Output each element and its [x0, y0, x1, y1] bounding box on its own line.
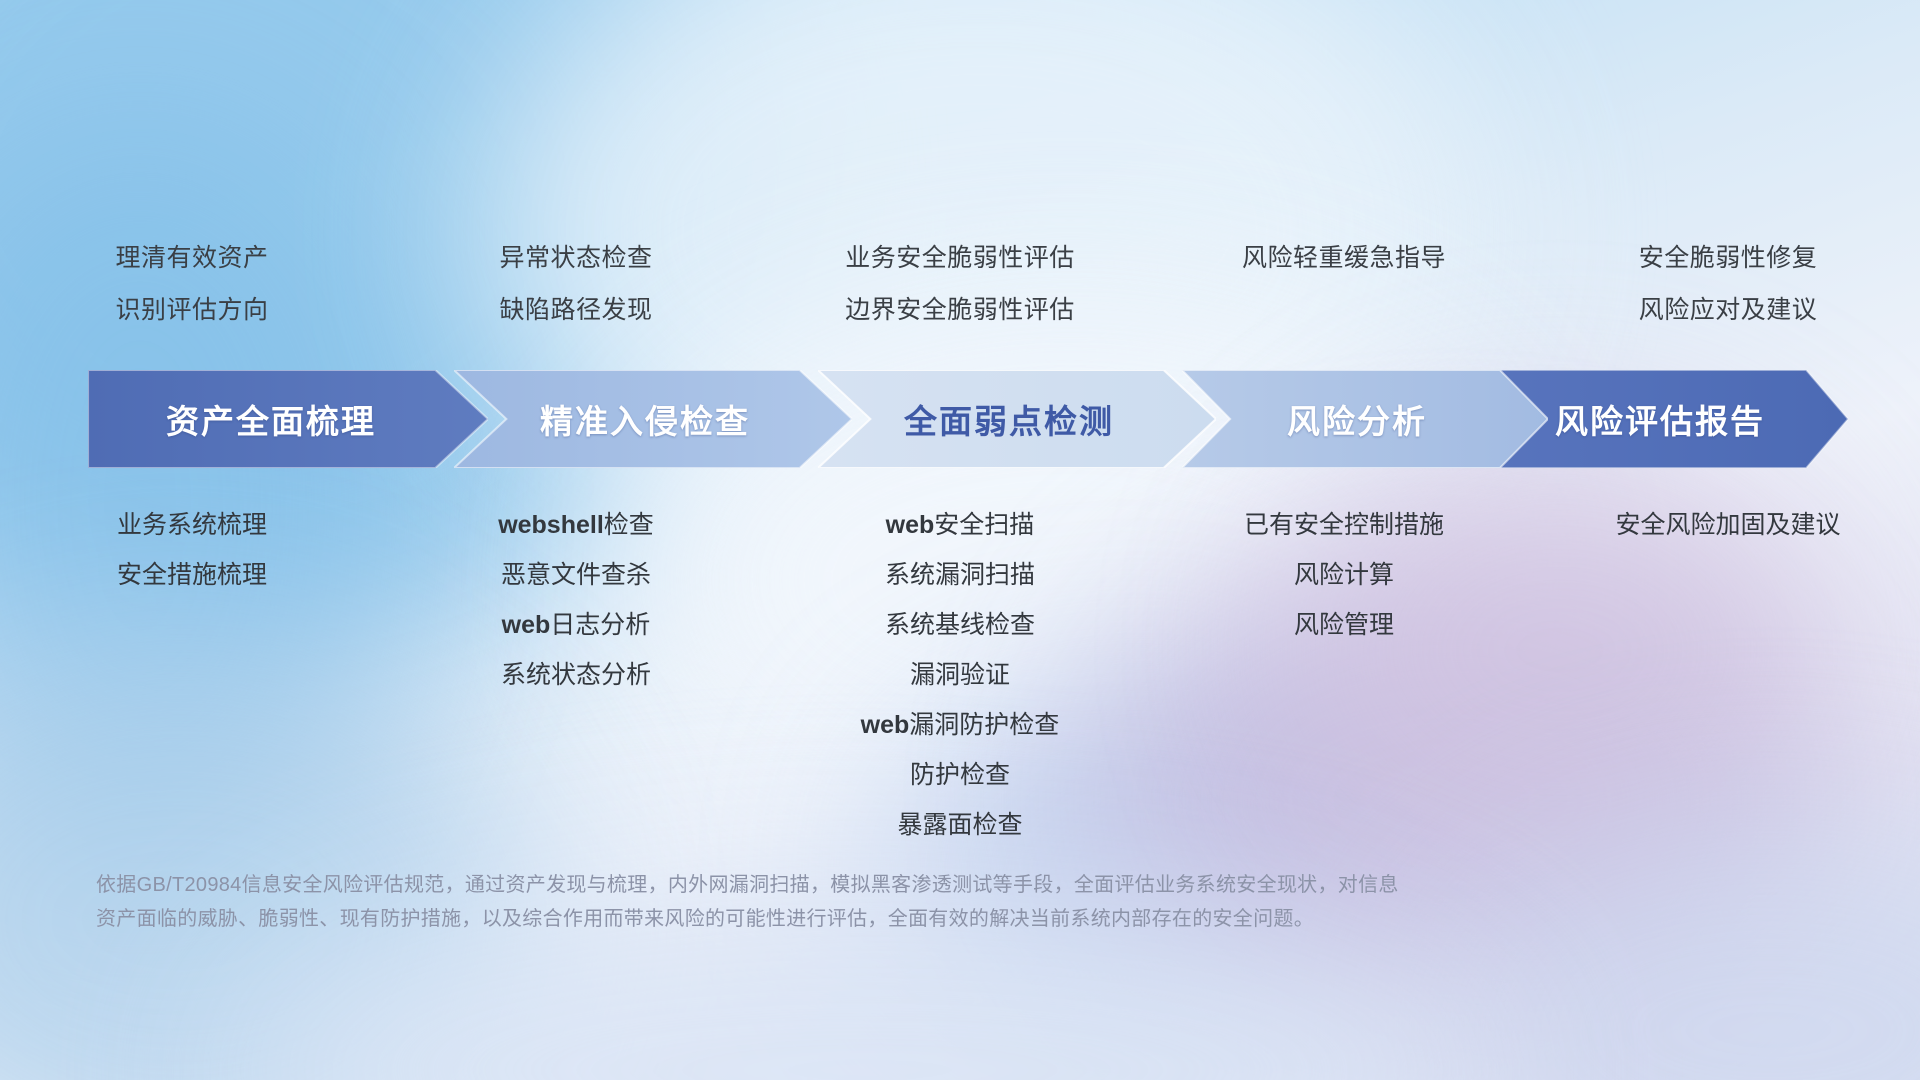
top-note: 识别评估方向 — [115, 284, 268, 336]
top-note: 边界安全脆弱性评估 — [845, 284, 1075, 336]
list-item-text: 安全扫描 — [934, 511, 1034, 539]
list-item-keyword: webshell — [498, 511, 604, 539]
top-note: 缺陷路径发现 — [499, 284, 652, 336]
list-item-text: 漏洞防护检查 — [909, 711, 1059, 739]
list-item: 风险计算 — [1294, 550, 1394, 600]
top-note: 理清有效资产 — [115, 232, 268, 284]
list-item: 漏洞验证 — [910, 650, 1010, 700]
process-stage-2[interactable]: 精准入侵检查 — [454, 370, 852, 468]
bottom-items-stage-3: web安全扫描 系统漏洞扫描 系统基线检查 漏洞验证 web漏洞防护检查 防护检… — [768, 500, 1152, 850]
list-item-text: 日志分析 — [550, 611, 650, 639]
bottom-items-stage-5: 安全风险加固及建议 — [1536, 500, 1920, 850]
list-item: 系统漏洞扫描 — [885, 550, 1035, 600]
list-item-keyword: web — [886, 511, 935, 539]
top-notes-row: 理清有效资产 识别评估方向 异常状态检查 缺陷路径发现 业务安全脆弱性评估 边界… — [0, 232, 1920, 336]
bottom-items-stage-4: 已有安全控制措施 风险计算 风险管理 — [1152, 500, 1536, 850]
footer-line-1: 依据GB/T20984信息安全风险评估规范，通过资产发现与梳理，内外网漏洞扫描，… — [96, 868, 1616, 902]
infographic-canvas: 理清有效资产 识别评估方向 异常状态检查 缺陷路径发现 业务安全脆弱性评估 边界… — [0, 0, 1920, 1080]
top-notes-stage-1: 理清有效资产 识别评估方向 — [0, 232, 384, 336]
top-note: 风险轻重缓急指导 — [1242, 232, 1446, 284]
list-item: web漏洞防护检查 — [861, 700, 1060, 750]
top-note: 安全脆弱性修复 — [1639, 232, 1818, 284]
list-item: 业务系统梳理 — [117, 500, 267, 550]
process-stage-1[interactable]: 资产全面梳理 — [88, 370, 488, 468]
bottom-items-row: 业务系统梳理 安全措施梳理 webshell检查 恶意文件查杀 web日志分析 … — [0, 500, 1920, 850]
list-item: web日志分析 — [502, 600, 651, 650]
list-item-keyword: web — [861, 711, 910, 739]
list-item: 已有安全控制措施 — [1244, 500, 1444, 550]
list-item: 风险管理 — [1294, 600, 1394, 650]
process-stage-label: 风险分析 — [1287, 395, 1427, 443]
process-stage-label: 风险评估报告 — [1555, 395, 1765, 443]
top-notes-stage-2: 异常状态检查 缺陷路径发现 — [384, 232, 768, 336]
footer-line-2: 资产面临的威胁、脆弱性、现有防护措施，以及综合作用而带来风险的可能性进行评估，全… — [96, 902, 1616, 936]
list-item: 系统基线检查 — [885, 600, 1035, 650]
top-note: 业务安全脆弱性评估 — [845, 232, 1075, 284]
list-item: 安全风险加固及建议 — [1615, 500, 1840, 550]
footer-description: 依据GB/T20984信息安全风险评估规范，通过资产发现与梳理，内外网漏洞扫描，… — [96, 868, 1616, 936]
top-note: 异常状态检查 — [499, 232, 652, 284]
bottom-items-stage-1: 业务系统梳理 安全措施梳理 — [0, 500, 384, 850]
process-arrow-band: 资产全面梳理 精准入侵检查 — [88, 370, 1848, 468]
list-item: 安全措施梳理 — [117, 550, 267, 600]
list-item: 系统状态分析 — [501, 650, 651, 700]
process-stage-4[interactable]: 风险分析 — [1182, 370, 1548, 468]
list-item: webshell检查 — [498, 500, 654, 550]
top-notes-stage-3: 业务安全脆弱性评估 边界安全脆弱性评估 — [768, 232, 1152, 336]
list-item-text: 检查 — [604, 511, 654, 539]
list-item: 防护检查 — [910, 750, 1010, 800]
process-stage-3[interactable]: 全面弱点检测 — [818, 370, 1216, 468]
bottom-items-stage-2: webshell检查 恶意文件查杀 web日志分析 系统状态分析 — [384, 500, 768, 850]
list-item-keyword: web — [502, 611, 551, 639]
process-stage-label: 资产全面梳理 — [166, 395, 376, 443]
process-stage-label: 精准入侵检查 — [540, 395, 750, 443]
list-item: web安全扫描 — [886, 500, 1035, 550]
list-item: 恶意文件查杀 — [501, 550, 651, 600]
list-item: 暴露面检查 — [897, 800, 1022, 850]
top-notes-stage-4: 风险轻重缓急指导 — [1152, 232, 1536, 336]
top-notes-stage-5: 安全脆弱性修复 风险应对及建议 — [1536, 232, 1920, 336]
top-note: 风险应对及建议 — [1639, 284, 1818, 336]
process-stage-label: 全面弱点检测 — [904, 395, 1114, 443]
